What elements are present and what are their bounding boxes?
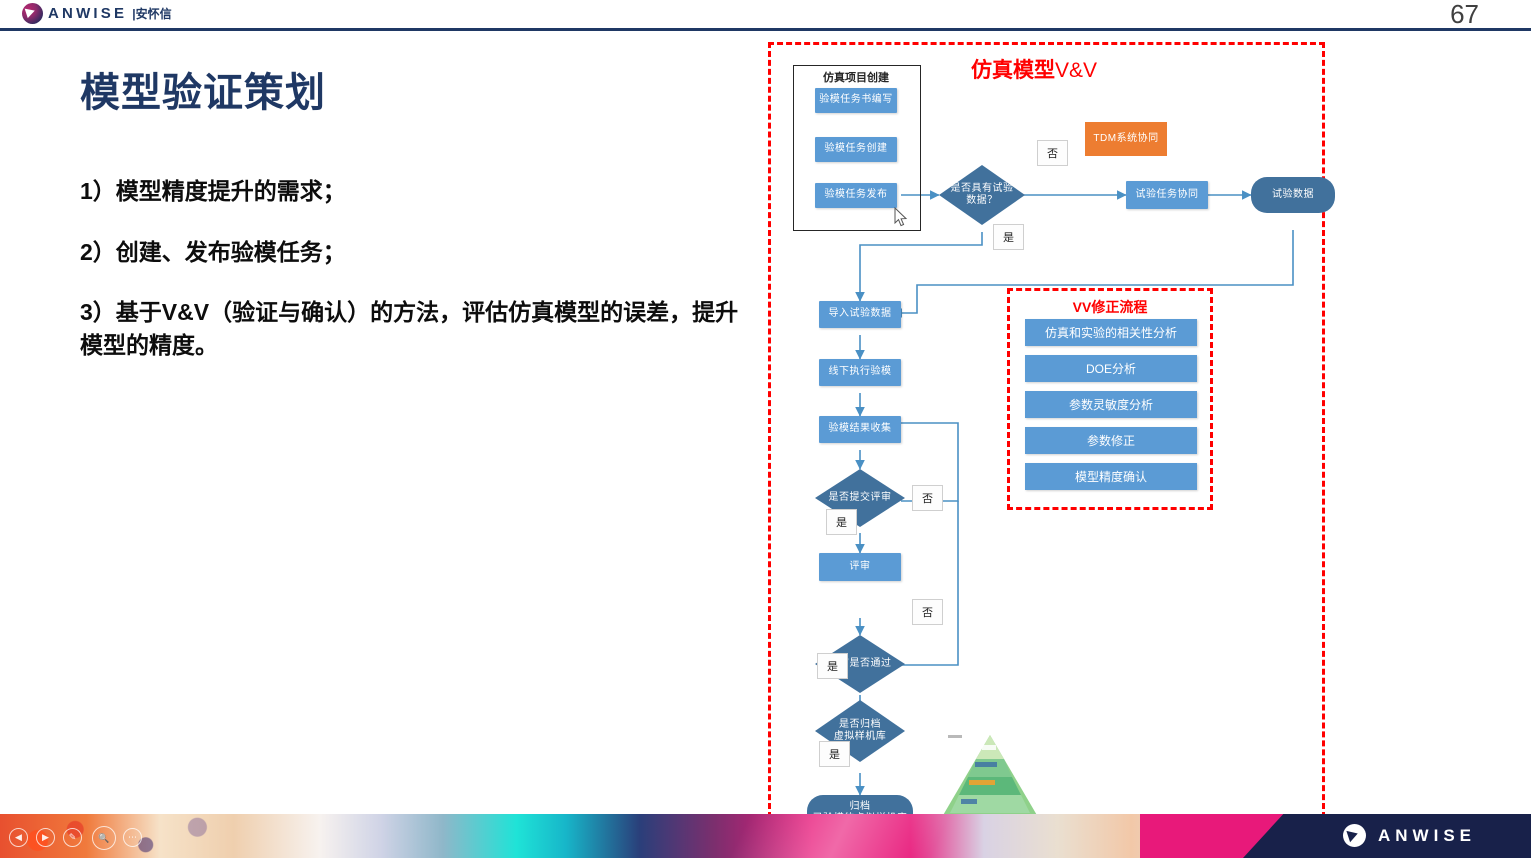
node-validation-task-publish[interactable]: 验模任务发布 xyxy=(815,183,897,208)
bullet-item-2: 2）创建、发布验模任务； xyxy=(80,236,760,269)
vv-item-parameter-correction[interactable]: 参数修正 xyxy=(1025,427,1197,454)
edge-label-yes-2: 是 xyxy=(826,509,857,535)
node-tdm-collaboration[interactable]: TDM系统协同 xyxy=(1085,122,1167,156)
zoom-icon[interactable]: 🔍 xyxy=(92,826,116,850)
flowchart-title-cn: 仿真模型 xyxy=(971,59,1055,82)
node-review[interactable]: 评审 xyxy=(819,553,901,581)
edge-label-no-3: 否 xyxy=(912,599,943,625)
pen-tool-icon[interactable]: ✎ xyxy=(63,828,82,847)
edge-label-yes-3: 是 xyxy=(817,653,848,679)
previous-slide-icon[interactable]: ◀ xyxy=(9,828,28,847)
next-slide-icon[interactable]: ▶ xyxy=(36,828,55,847)
edge-label-yes-4: 是 xyxy=(819,741,850,767)
header-divider xyxy=(0,28,1531,31)
node-test-task-collaboration[interactable]: 试验任务协同 xyxy=(1126,181,1208,209)
anwise-footer-logo-icon xyxy=(1343,824,1366,847)
vv-item-accuracy-confirmation[interactable]: 模型精度确认 xyxy=(1025,463,1197,490)
node-import-test-data[interactable]: 导入试验数据 xyxy=(819,301,901,328)
more-options-icon[interactable]: ⋯ xyxy=(123,828,142,847)
vv-item-correlation-analysis[interactable]: 仿真和实验的相关性分析 xyxy=(1025,319,1197,346)
bullet-item-3: 3）基于V&V（验证与确认）的方法，评估仿真模型的误差，提升模型的精度。 xyxy=(80,296,760,363)
page-title: 模型验证策划 xyxy=(80,60,326,118)
decision-has-test-data[interactable]: 是否具有试验 数据？ xyxy=(939,165,1025,225)
bullet-item-1: 1）模型精度提升的需求； xyxy=(80,175,760,208)
page-number: 67 xyxy=(1450,0,1479,30)
brand-logo: ANWISE |安怀信 xyxy=(22,3,172,24)
node-validation-task-doc[interactable]: 验模任务书编写 xyxy=(815,88,897,113)
edge-label-no-1: 否 xyxy=(1037,140,1068,166)
node-test-data[interactable]: 试验数据 xyxy=(1251,177,1335,213)
vv-item-doe-analysis[interactable]: DOE分析 xyxy=(1025,355,1197,382)
anwise-logo-icon xyxy=(22,3,43,24)
edge-label-yes-1: 是 xyxy=(993,224,1024,250)
pyramid-graphic-icon xyxy=(942,733,1038,819)
node-validation-task-create[interactable]: 验模任务创建 xyxy=(815,137,897,162)
footer-brand-text: ANWISE xyxy=(1378,826,1476,846)
vv-correction-title: VV修正流程 xyxy=(1007,297,1213,317)
node-collect-validation-results[interactable]: 验模结果收集 xyxy=(819,416,901,443)
node-offline-validation[interactable]: 线下执行验模 xyxy=(819,359,901,386)
flowchart-title-latin: V&V xyxy=(1055,59,1097,82)
brand-logo-cn: |安怀信 xyxy=(132,5,171,22)
flowchart-title: 仿真模型V&V xyxy=(971,54,1097,84)
edge-label-no-2: 否 xyxy=(912,485,943,511)
vv-item-sensitivity-analysis[interactable]: 参数灵敏度分析 xyxy=(1025,391,1197,418)
mouse-cursor-icon xyxy=(894,207,908,227)
project-create-group-title: 仿真项目创建 xyxy=(793,69,919,85)
logo-cn-text: 安怀信 xyxy=(136,7,172,21)
slide-footer: ◀ ▶ ✎ 🔍 ⋯ ANWISE xyxy=(0,814,1531,858)
footer-brand-logo: ANWISE xyxy=(1343,824,1476,847)
slide-header: ANWISE |安怀信 67 xyxy=(0,0,1531,30)
flowchart-container: 仿真模型V&V xyxy=(768,42,1325,818)
brand-logo-text: ANWISE xyxy=(48,5,127,22)
